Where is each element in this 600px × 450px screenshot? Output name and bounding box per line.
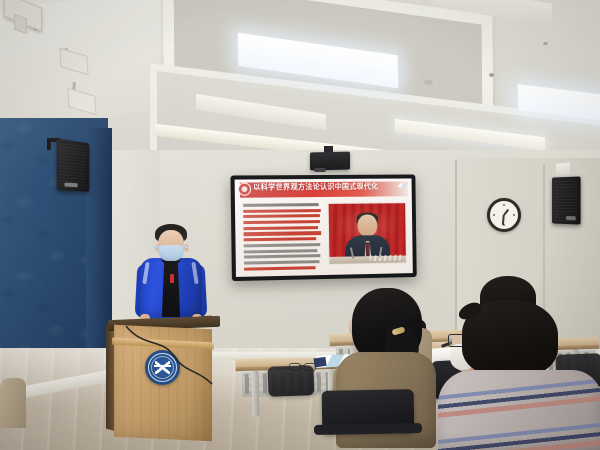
presentation-screen[interactable]: 以科学世界观方法论认识中国式现代化	[230, 174, 416, 281]
audience-member-front-right	[440, 300, 600, 450]
screen-display-area: 以科学世界观方法论认识中国式现代化	[235, 178, 413, 276]
speaker-logo	[65, 182, 78, 187]
speaker-logo	[566, 216, 576, 220]
slide: 以科学世界观方法论认识中国式现代化	[235, 178, 413, 276]
slide-photo	[328, 202, 407, 265]
face-mask-icon	[158, 245, 184, 261]
presenter	[132, 222, 210, 326]
chair[interactable]	[267, 365, 314, 397]
torso	[0, 378, 26, 428]
photo-watermark	[370, 255, 403, 262]
shirt-stripes	[438, 370, 600, 450]
microphone-cable	[122, 322, 214, 392]
speaker-right	[552, 176, 581, 224]
speaker-mount-bracket	[47, 138, 51, 150]
projector-lens-icon	[314, 168, 326, 172]
desk-leg	[252, 371, 260, 417]
photo-subject-head	[357, 214, 377, 236]
smoke-detector-icon	[424, 80, 433, 85]
folder	[313, 357, 326, 368]
wall-clock-icon	[487, 198, 521, 232]
lanyard-badge	[170, 274, 174, 283]
striped-polo-shirt	[438, 370, 600, 450]
audience-member-far-left	[0, 372, 26, 428]
slide-body-text	[241, 201, 325, 271]
smoke-detector-icon	[489, 73, 494, 77]
smoke-detector-icon	[543, 42, 548, 45]
party-emblem-icon	[238, 182, 251, 195]
slide-title: 以科学世界观方法论认识中国式现代化	[253, 180, 396, 194]
speaker-left	[57, 138, 89, 191]
lecture-hall-photo: 以科学世界观方法论认识中国式现代化	[0, 0, 600, 450]
chair-seat[interactable]	[314, 423, 422, 435]
speaker-grille	[60, 142, 87, 189]
